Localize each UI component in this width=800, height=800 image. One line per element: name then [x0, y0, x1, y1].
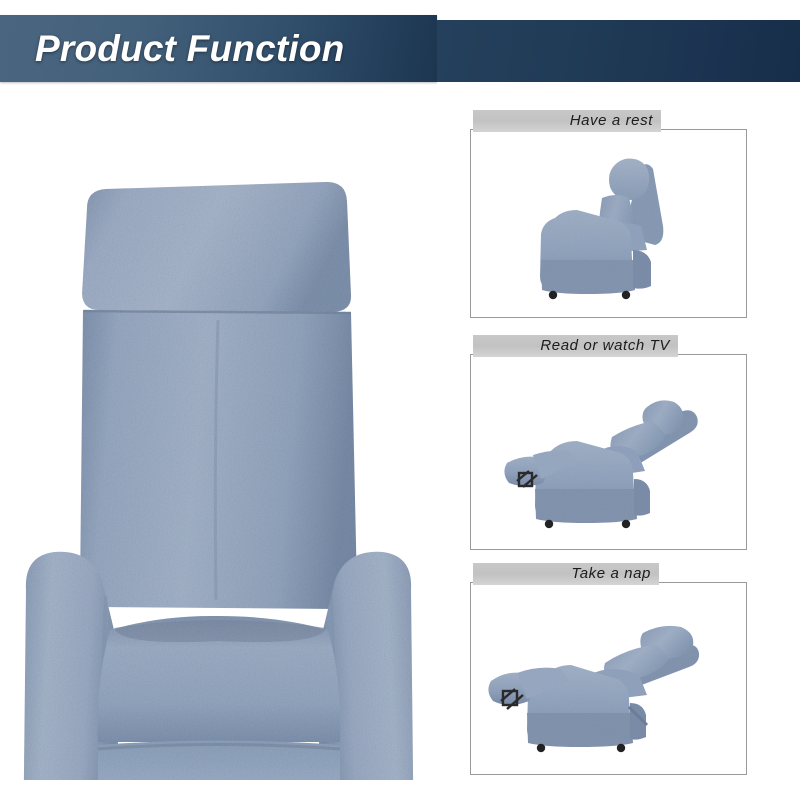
function-panel-take-a-nap: Take a nap	[470, 563, 749, 775]
recliner-upright	[540, 159, 663, 294]
headrest-pillow	[609, 159, 649, 200]
base-block	[541, 260, 635, 294]
panel-label-band-2: Take a nap	[473, 563, 659, 585]
panel-label-text-2: Take a nap	[571, 563, 651, 585]
panel-label-text-0: Have a rest	[570, 110, 653, 132]
panel-label-text-1: Read or watch TV	[540, 335, 670, 357]
foot-rear	[622, 520, 630, 528]
panel-image-box-2	[470, 582, 747, 775]
panel-label-band-0: Have a rest	[473, 110, 661, 132]
recliner-fully-reclined	[488, 626, 699, 747]
function-panel-have-a-rest: Have a rest	[470, 110, 749, 318]
function-panel-read-or-watch-tv: Read or watch TV	[470, 335, 749, 550]
recliner-partially-reclined	[504, 400, 697, 523]
foot-rear	[617, 744, 625, 752]
panel-image-box-1	[470, 354, 747, 550]
foot-front	[537, 744, 545, 752]
panel-label-band-1: Read or watch TV	[473, 335, 678, 357]
page-title: Product Function	[35, 18, 344, 80]
header-banner-tail	[437, 20, 800, 82]
foot-rear	[622, 291, 630, 299]
panel-image-box-0	[470, 129, 747, 318]
hero-headrest	[82, 182, 351, 312]
foot-front	[549, 291, 557, 299]
hero-product-image	[2, 160, 450, 780]
foot-front	[545, 520, 553, 528]
